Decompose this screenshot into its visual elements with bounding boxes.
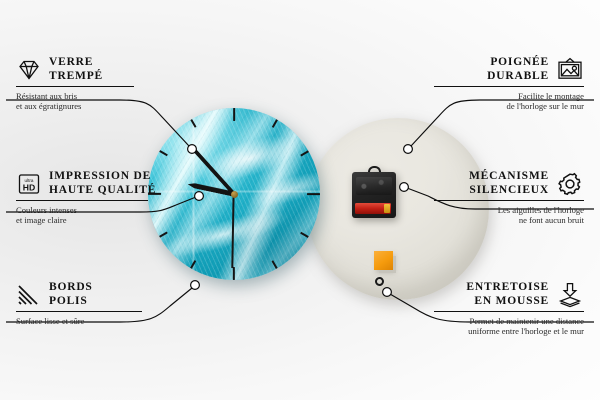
callout-entretoise-en-mousse: ENTRETOISE EN MOUSSE Permet de maintenir… bbox=[434, 281, 584, 337]
callout-description: Couleurs intenses et image claire bbox=[16, 205, 166, 226]
callout-verre-trempe: VERRE TREMPÉ Résistant aux bris et aux é… bbox=[16, 56, 166, 112]
callout-description: Surface lisse et sûre bbox=[16, 316, 166, 327]
callout-bords-polis: BORDS POLIS Surface lisse et sûre bbox=[16, 281, 166, 326]
foam-spacer-ring bbox=[375, 277, 384, 286]
callout-divider bbox=[16, 200, 148, 201]
callout-divider bbox=[434, 200, 584, 201]
callout-header: VERRE TREMPÉ bbox=[16, 56, 166, 83]
ultra-hd-icon: ultra HD bbox=[16, 172, 42, 196]
second-hand bbox=[232, 194, 235, 268]
callout-impression-haute-qualite: ultra HD IMPRESSION DE HAUTE QUALITÉ Cou… bbox=[16, 170, 166, 226]
callout-title: IMPRESSION DE HAUTE QUALITÉ bbox=[49, 170, 156, 197]
infographic-canvas: VERRE TREMPÉ Résistant aux bris et aux é… bbox=[0, 0, 600, 400]
callout-description: Résistant aux bris et aux égratignures bbox=[16, 91, 166, 112]
callout-title: ENTRETOISE EN MOUSSE bbox=[466, 281, 549, 308]
mechanism-housing bbox=[352, 172, 396, 218]
ultra-hd-bottom-label: HD bbox=[23, 182, 35, 192]
wire-node-bords-polis bbox=[191, 281, 200, 290]
clock-hands bbox=[148, 108, 320, 280]
foam-spacer bbox=[374, 251, 393, 270]
callout-title: MÉCANISME SILENCIEUX bbox=[469, 170, 549, 197]
foam-spacer-icon bbox=[556, 282, 584, 308]
clock-mechanism bbox=[352, 172, 396, 218]
diamond-icon bbox=[16, 58, 42, 82]
callout-mecanisme-silencieux: MÉCANISME SILENCIEUX Les aiguilles de l'… bbox=[434, 170, 584, 226]
callout-divider bbox=[16, 311, 142, 312]
callout-description: Les aiguilles de l'horloge ne font aucun… bbox=[434, 205, 584, 226]
callout-description: Permet de maintenir une distance uniform… bbox=[434, 316, 584, 337]
clock-face-disc bbox=[148, 108, 320, 280]
battery bbox=[355, 203, 391, 214]
callout-divider bbox=[434, 86, 584, 87]
callout-poignee-durable: POIGNÉE DURABLE Facilite le montage de l… bbox=[434, 56, 584, 112]
callout-title: BORDS POLIS bbox=[49, 281, 93, 308]
mechanism-housing-detail bbox=[356, 177, 392, 195]
hands-center-cap bbox=[231, 191, 238, 198]
callout-header: BORDS POLIS bbox=[16, 281, 166, 308]
callout-header: ultra HD IMPRESSION DE HAUTE QUALITÉ bbox=[16, 170, 166, 197]
callout-header: ENTRETOISE EN MOUSSE bbox=[434, 281, 584, 308]
callout-title: POIGNÉE DURABLE bbox=[487, 56, 549, 83]
callout-header: POIGNÉE DURABLE bbox=[434, 56, 584, 83]
picture-hanger-icon bbox=[556, 57, 584, 83]
callout-divider bbox=[16, 86, 134, 87]
polished-edges-icon bbox=[16, 283, 42, 307]
callout-description: Facilite le montage de l'horloge sur le … bbox=[434, 91, 584, 112]
callout-header: MÉCANISME SILENCIEUX bbox=[434, 170, 584, 197]
gear-icon bbox=[556, 171, 584, 197]
callout-divider bbox=[434, 311, 584, 312]
callout-title: VERRE TREMPÉ bbox=[49, 56, 103, 83]
